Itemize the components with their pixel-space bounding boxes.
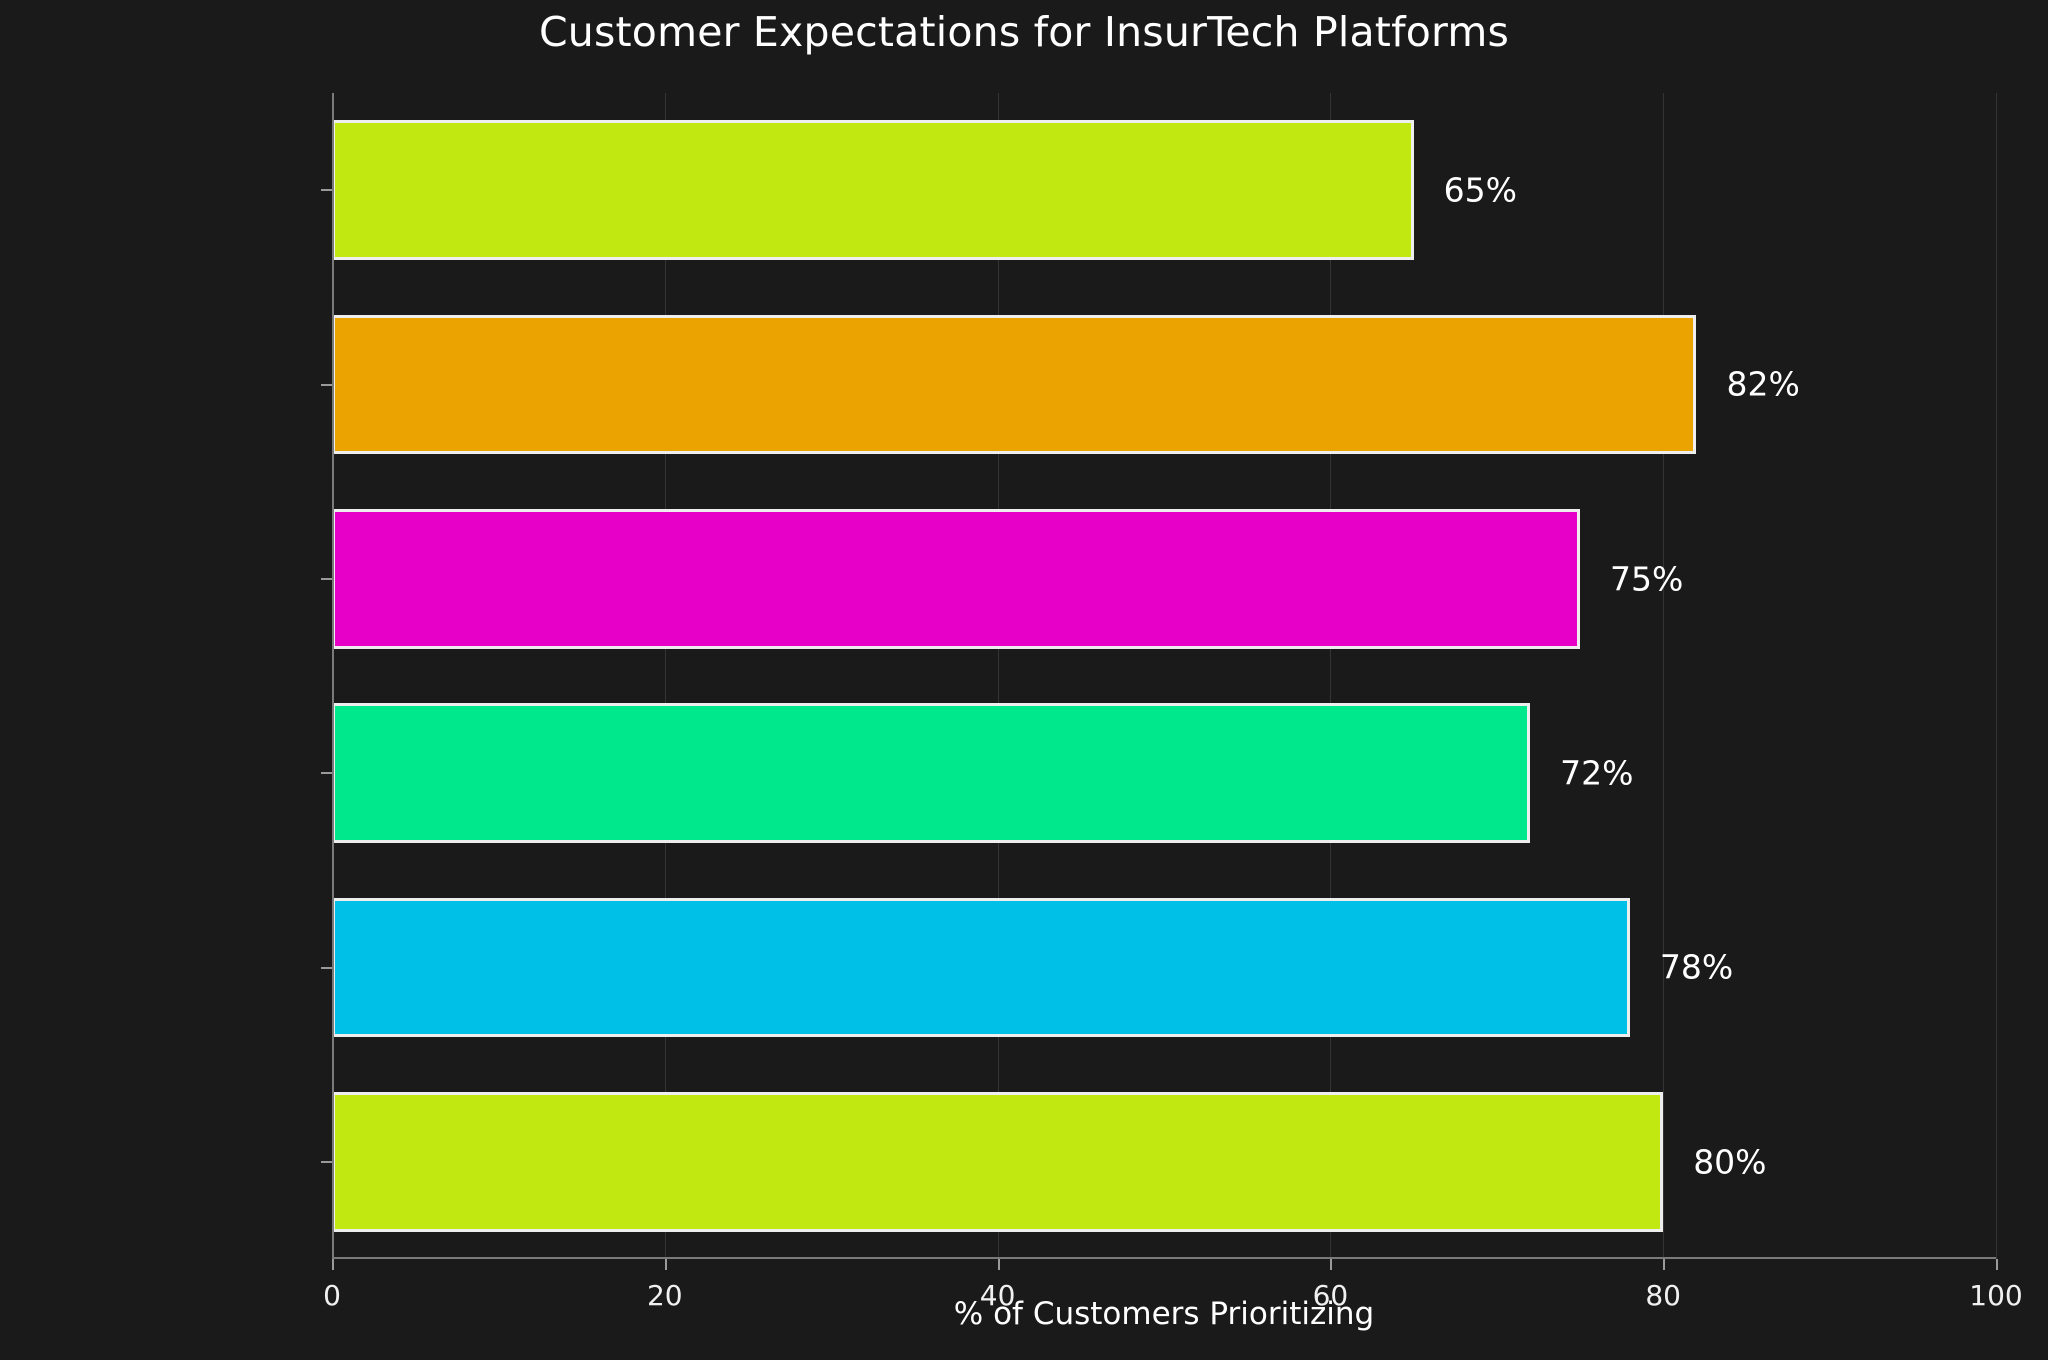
bar[interactable] <box>332 120 1414 260</box>
bar[interactable] <box>332 509 1580 649</box>
bar-track: 72% <box>332 703 1996 843</box>
x-tick-mark <box>998 1259 1000 1270</box>
bar[interactable] <box>332 898 1630 1038</box>
y-axis-spine <box>332 93 334 1259</box>
y-tick-mark <box>321 1161 332 1163</box>
x-tick-mark <box>1663 1259 1665 1270</box>
bar-track: 80% <box>332 1092 1996 1232</box>
x-tick-mark <box>1996 1259 1998 1270</box>
x-tick-mark <box>1330 1259 1332 1270</box>
chart-title: Customer Expectations for InsurTech Plat… <box>0 8 2048 56</box>
gridline <box>1663 93 1664 1259</box>
bar-value-label: 80% <box>1693 1142 1766 1181</box>
bar-value-label: 65% <box>1444 171 1517 210</box>
bar-track: 65% <box>332 120 1996 260</box>
bar-value-label: 75% <box>1610 559 1683 598</box>
x-tick-mark <box>332 1259 334 1270</box>
bar[interactable] <box>332 703 1530 843</box>
x-axis-label: % of Customers Prioritizing <box>332 1296 1996 1332</box>
bar[interactable] <box>332 315 1696 455</box>
bar-value-label: 72% <box>1560 754 1633 793</box>
bar-track: 82% <box>332 315 1996 455</box>
y-tick-mark <box>321 772 332 774</box>
y-tick-mark <box>321 189 332 191</box>
gridline <box>665 93 666 1259</box>
bar[interactable] <box>332 1092 1663 1232</box>
y-tick-mark <box>321 384 332 386</box>
gridline <box>998 93 999 1259</box>
bar-track: 78% <box>332 898 1996 1038</box>
y-tick-mark <box>321 578 332 580</box>
bar-value-label: 82% <box>1726 365 1799 404</box>
x-tick-mark <box>665 1259 667 1270</box>
y-tick-mark <box>321 967 332 969</box>
plot-area: 65%82%75%72%78%80% Telematics DashboardS… <box>332 93 1996 1259</box>
gridline <box>1330 93 1331 1259</box>
chart-figure: Customer Expectations for InsurTech Plat… <box>0 0 2048 1360</box>
x-axis-spine <box>332 1257 1996 1259</box>
bar-value-label: 78% <box>1660 948 1733 987</box>
bar-track: 75% <box>332 509 1996 649</box>
gridline <box>1996 93 1997 1259</box>
